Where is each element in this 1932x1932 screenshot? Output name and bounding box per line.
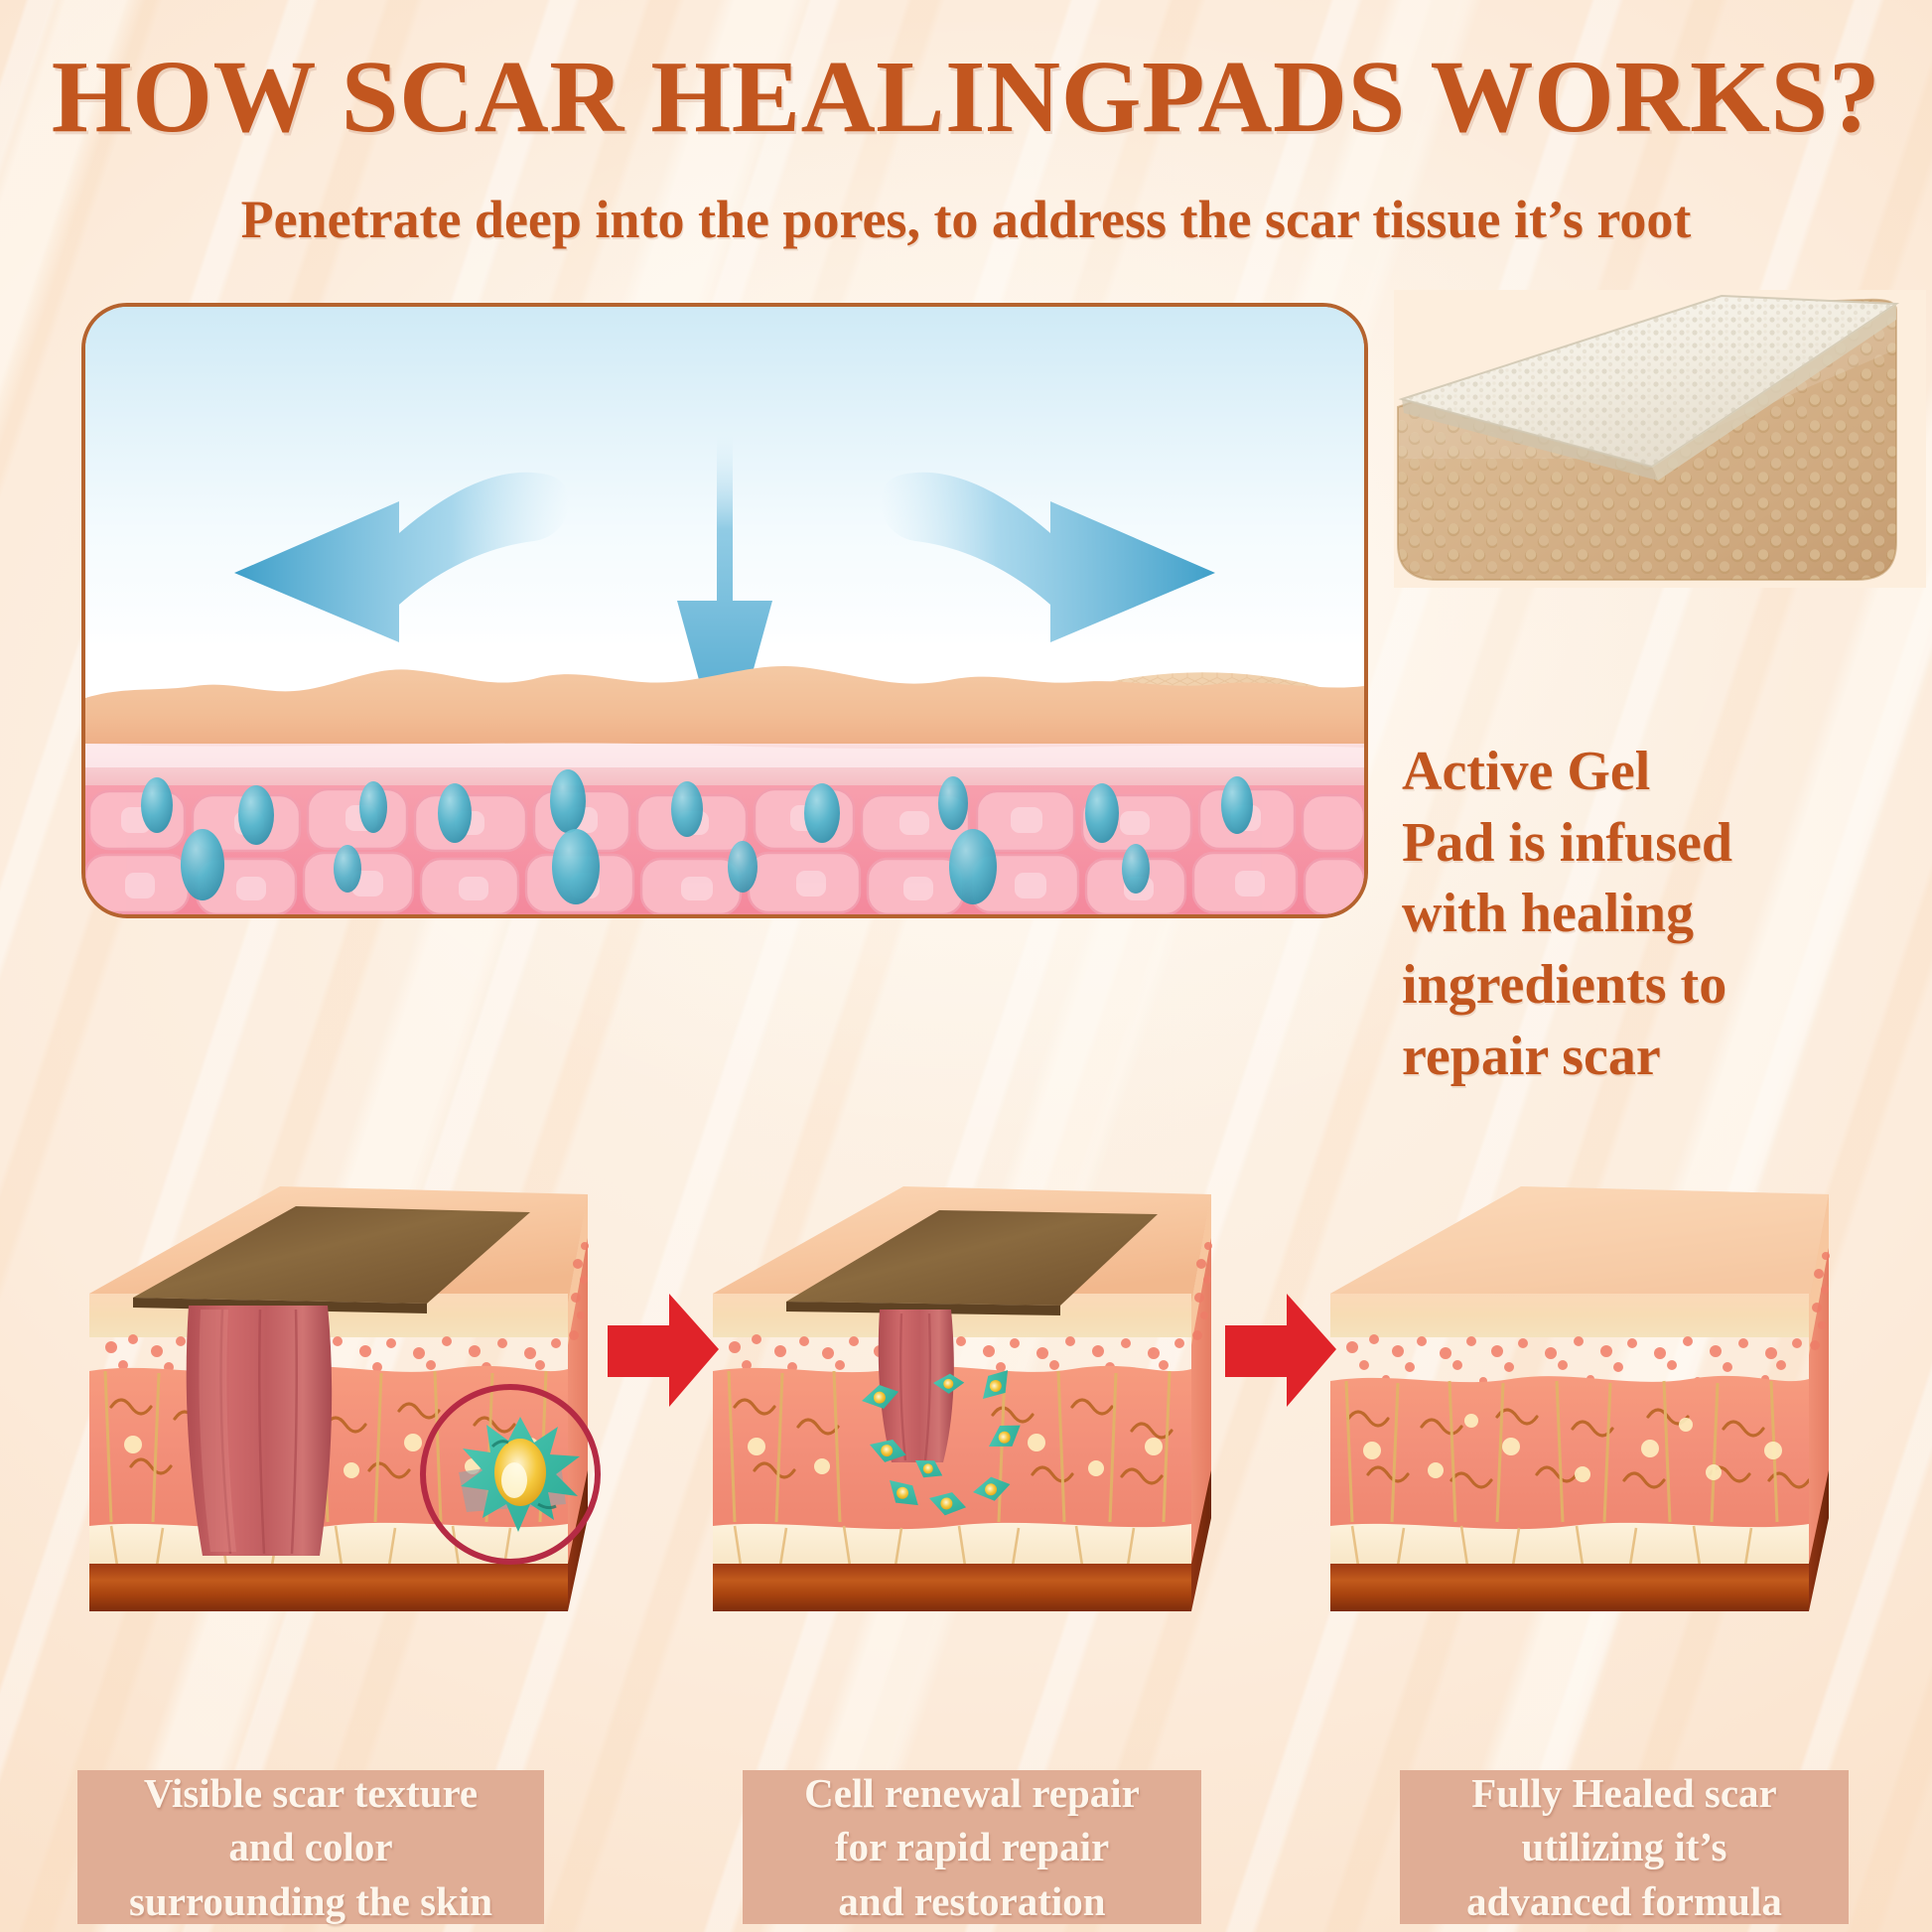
gel-info-text: Active Gel Pad is infused with healing i… bbox=[1402, 737, 1868, 1092]
caption-3-line-2: utilizing it’s bbox=[1522, 1824, 1727, 1869]
stage-3-caption: Fully Healed scar utilizing it’s advance… bbox=[1400, 1770, 1849, 1924]
caption-2-line-1: Cell renewal repair bbox=[804, 1770, 1140, 1816]
stage-1-illustration bbox=[71, 1176, 667, 1643]
gel-info-line-1: Active Gel bbox=[1402, 737, 1868, 808]
skin-cross-section bbox=[85, 656, 1364, 914]
healing-stages bbox=[0, 1176, 1932, 1643]
gel-info-line-5: repair scar bbox=[1402, 1022, 1868, 1093]
caption-1-line-1: Visible scar texture bbox=[144, 1770, 478, 1816]
gel-info-line-4: ingredients to bbox=[1402, 950, 1868, 1022]
stage-2-caption: Cell renewal repair for rapid repair and… bbox=[743, 1770, 1201, 1924]
page-title: HOW SCAR HEALINGPADS WORKS? bbox=[0, 38, 1932, 156]
caption-3-line-3: advanced formula bbox=[1466, 1878, 1782, 1924]
patch-penetration-panel bbox=[81, 303, 1368, 918]
gel-info-line-2: Pad is infused bbox=[1402, 808, 1868, 880]
caption-1-line-2: and color bbox=[228, 1824, 392, 1869]
stage-3-illustration bbox=[1312, 1176, 1908, 1643]
caption-1-line-3: surrounding the skin bbox=[129, 1878, 492, 1924]
stage-captions: Visible scar texture and color surroundi… bbox=[0, 1770, 1932, 1929]
caption-2-line-2: for rapid repair bbox=[835, 1824, 1109, 1869]
infographic-page: HOW SCAR HEALINGPADS WORKS? Penetrate de… bbox=[0, 0, 1932, 1932]
page-subtitle: Penetrate deep into the pores, to addres… bbox=[0, 189, 1932, 250]
stage-1-caption: Visible scar texture and color surroundi… bbox=[77, 1770, 544, 1924]
caption-3-line-1: Fully Healed scar bbox=[1471, 1770, 1776, 1816]
stage-2-illustration bbox=[695, 1176, 1291, 1643]
gel-info-line-3: with healing bbox=[1402, 879, 1868, 950]
gel-pad-photo bbox=[1394, 290, 1926, 588]
caption-2-line-3: and restoration bbox=[838, 1878, 1105, 1924]
